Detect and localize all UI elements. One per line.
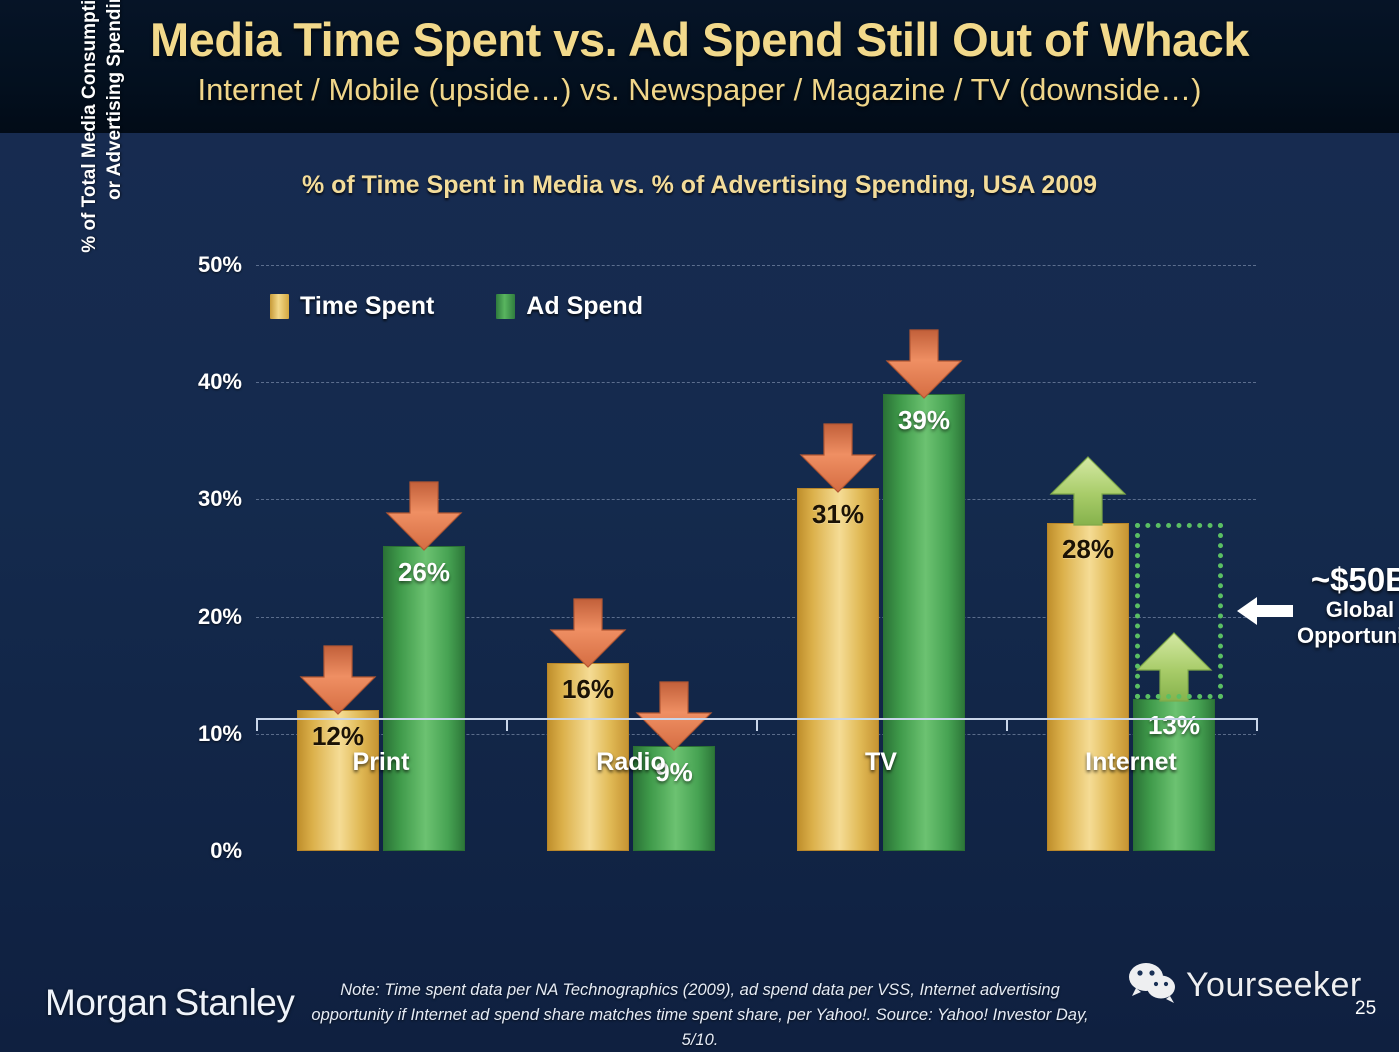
opportunity-left-arrow-icon — [1237, 594, 1293, 633]
bar-value-label: 26% — [384, 557, 464, 588]
y-axis-tick-label: 40% — [186, 369, 242, 395]
opportunity-line-2: Opportunity — [1297, 623, 1399, 648]
y-axis-tick-label: 10% — [186, 721, 242, 747]
opportunity-amount: ~$50B — [1297, 563, 1399, 598]
down-arrow-icon — [549, 597, 627, 669]
down-arrow-icon — [799, 422, 877, 494]
down-arrow-icon — [299, 644, 377, 716]
bar-value-label: 39% — [884, 405, 964, 436]
chart-title: % of Time Spent in Media vs. % of Advert… — [0, 171, 1399, 200]
down-arrow-icon — [635, 680, 713, 752]
opportunity-dotted-box — [1135, 523, 1223, 699]
y-axis-tick-label: 50% — [186, 252, 242, 278]
page-number: 25 — [1355, 998, 1376, 1020]
x-axis-tick — [756, 718, 758, 731]
bar-print-ad-spend[interactable]: 26% — [383, 546, 465, 851]
morgan-stanley-logo: MorganStanley — [45, 982, 294, 1024]
chart-legend: Time Spent Ad Spend — [270, 292, 643, 321]
up-arrow-icon — [1049, 455, 1127, 527]
legend-item-ad-spend[interactable]: Ad Spend — [496, 292, 643, 321]
bar-value-label: 16% — [548, 674, 628, 705]
page-subtitle: Internet / Mobile (upside…) vs. Newspape… — [0, 72, 1399, 108]
opportunity-line-1: Global — [1297, 597, 1399, 622]
wechat-icon — [1128, 962, 1178, 1009]
x-axis-label-internet: Internet — [1006, 748, 1256, 777]
legend-label-time-spent: Time Spent — [300, 292, 434, 321]
x-axis — [256, 718, 1256, 732]
legend-swatch-ad-spend — [496, 294, 515, 319]
down-arrow-icon — [885, 328, 963, 400]
watermark: Yourseeker — [1128, 962, 1362, 1009]
legend-item-time-spent[interactable]: Time Spent — [270, 292, 434, 321]
bar-value-label: 28% — [1048, 534, 1128, 565]
y-axis-title-line-2: or Advertising Spending — [104, 0, 125, 200]
gridline-50 — [256, 265, 1256, 266]
brand-name-part-1: Morgan — [45, 982, 167, 1023]
down-arrow-icon — [385, 480, 463, 552]
slide-header: Media Time Spent vs. Ad Spend Still Out … — [0, 0, 1399, 133]
x-axis-tick — [1006, 718, 1008, 731]
x-axis-label-print: Print — [256, 748, 506, 777]
legend-label-ad-spend: Ad Spend — [526, 292, 643, 321]
footer-note: Note: Time spent data per NA Technograph… — [300, 978, 1100, 1052]
page-title: Media Time Spent vs. Ad Spend Still Out … — [0, 12, 1399, 67]
y-axis-tick-label: 20% — [186, 604, 242, 630]
bar-tv-ad-spend[interactable]: 39% — [883, 394, 965, 851]
x-axis-tick — [1256, 718, 1258, 731]
bar-value-label: 31% — [798, 499, 878, 530]
y-axis-tick-label: 0% — [186, 838, 242, 864]
x-axis-tick — [256, 718, 258, 731]
gridline-40 — [256, 382, 1256, 383]
y-axis-title: % of Total Media Consumption Time or Adv… — [78, 0, 127, 300]
x-axis-label-tv: TV — [756, 748, 1006, 777]
bar-tv-time-spent[interactable]: 31% — [797, 488, 879, 851]
y-axis-title-line-1: % of Total Media Consumption Time — [79, 0, 100, 253]
opportunity-callout: ~$50B Global Opportunity — [1297, 563, 1399, 648]
legend-swatch-time-spent — [270, 294, 289, 319]
bar-internet-time-spent[interactable]: 28% — [1047, 523, 1129, 851]
brand-name-part-2: Stanley — [174, 982, 294, 1023]
watermark-text: Yourseeker — [1186, 966, 1362, 1005]
x-axis-label-radio: Radio — [506, 748, 756, 777]
x-axis-tick — [506, 718, 508, 731]
y-axis-tick-label: 30% — [186, 486, 242, 512]
